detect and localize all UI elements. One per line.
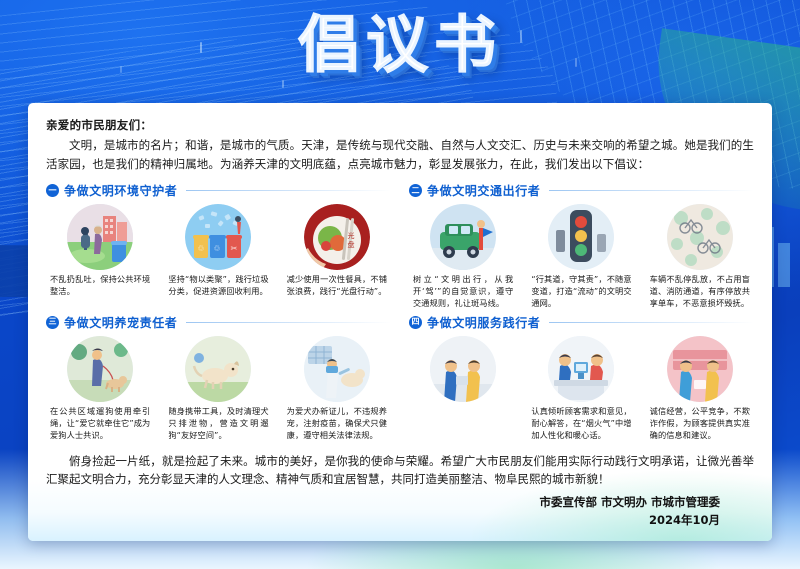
list-item: 诚信经营，公平竞争，不欺诈作假，为顾客提供真实准确的信息和建议。: [646, 336, 754, 442]
shared-bikes-parking-icon: [667, 204, 733, 270]
clean-plate-bowl-icon: 光 盘: [304, 204, 370, 270]
section-number-badge: 二: [409, 184, 422, 197]
dog-leash-walk-icon: [67, 336, 133, 402]
list-item: 认真倾听顾客需求和意见，耐心解答，在“烟火气”中增加人性化和暖心话。: [527, 336, 635, 442]
section-pet: 三 争做文明养宠责任者: [46, 314, 391, 442]
signature-block: 市委宣传部 市文明办 市城市管理委 2024年10月: [46, 493, 754, 530]
dog-waste-cleanup-icon: [185, 336, 251, 402]
poster-title-area: 倡议书: [0, 14, 800, 76]
item-caption: 树立“文明出行，从我开‘驾’”的自觉意识，遵守交通规则，礼让斑马线。: [409, 274, 517, 310]
item-caption: 坚持“物以类聚”，践行垃圾分类，促进资源回收利用。: [164, 274, 272, 298]
section-service: 四 争做文明服务践行者: [409, 314, 754, 442]
honest-business-icon: [667, 336, 733, 402]
section-number-badge: 四: [409, 316, 422, 329]
item-caption: “行其道，守其责”，不随意变道，打造“流动”的文明交通网。: [527, 274, 635, 310]
list-item: 随身携带工具，及时清理犬只排泄物，营造文明遛狗“友好空间”。: [164, 336, 272, 442]
list-item: ♲♲✂ 坚持“物以类聚”，践行垃圾分类，促进资源回收利用。: [164, 204, 272, 298]
salutation: 亲爱的市民朋友们：: [46, 117, 754, 133]
item-caption: 为爱犬办新证儿，不违规养宠，注射疫苗，确保犬只健康，遵守相关法律法规。: [283, 406, 391, 442]
section-divider-rule: [186, 322, 391, 323]
list-item: 树立“文明出行，从我开‘驾’”的自觉意识，遵守交通规则，礼让斑马线。: [409, 204, 517, 310]
item-caption: 随身携带工具，及时清理犬只排泄物，营造文明遛狗“友好空间”。: [164, 406, 272, 442]
customer-service-desk-icon: [548, 336, 614, 402]
list-item: 光 盘 减少使用一次性餐具，不铺张浪费，践行“光盘行动”。: [283, 204, 391, 298]
svg-text:光: 光: [347, 231, 354, 240]
service-staff-icon: [430, 336, 496, 402]
list-item: 不乱扔乱吐，保持公共环境整洁。: [46, 204, 154, 298]
section-traffic: 二 争做文明交通出行者: [409, 182, 754, 310]
section-number-badge: 一: [46, 184, 59, 197]
closing-paragraph: 俯身捡起一片纸，就是捡起了未来。城市的美好，是你我的使命与荣耀。希望广大市民朋友…: [46, 452, 754, 489]
list-item: 车辆不乱停乱放，不占用盲道、消防通道，有序停放共享单车，不恶意损坏毁抚。: [646, 204, 754, 310]
list-item: [409, 336, 517, 442]
sparkle-icon: [282, 80, 284, 88]
signature-date: 2024年10月: [46, 511, 720, 529]
letter-card: 亲爱的市民朋友们： 文明，是城市的名片；和谐，是城市的气质。天津，是传统与现代交…: [28, 103, 772, 541]
section-title: 争做文明养宠责任者: [64, 314, 177, 331]
intro-paragraph: 文明，是城市的名片；和谐，是城市的气质。天津，是传统与现代交融、自然与人文交汇、…: [46, 136, 754, 173]
svg-text:盘: 盘: [347, 240, 354, 249]
section-header: 四 争做文明服务践行者: [409, 314, 754, 331]
section-items: 认真倾听顾客需求和意见，耐心解答，在“烟火气”中增加人性化和暖心话。: [409, 336, 754, 442]
signature-organizations: 市委宣传部 市文明办 市城市管理委: [46, 493, 720, 511]
item-caption: 减少使用一次性餐具，不铺张浪费，践行“光盘行动”。: [283, 274, 391, 298]
traffic-signal-icon: [548, 204, 614, 270]
list-item: 在公共区域遛狗使用牵引绳，让“爱它就牵住它”成为爱狗人士共识。: [46, 336, 154, 442]
green-car-driver-icon: [430, 204, 496, 270]
section-environment: 一 争做文明环境守护者: [46, 182, 391, 310]
section-items: 不乱扔乱吐，保持公共环境整洁。: [46, 204, 391, 298]
svg-text:♲: ♲: [214, 244, 221, 253]
section-divider-rule: [549, 322, 754, 323]
item-caption: 认真倾听顾客需求和意见，耐心解答，在“烟火气”中增加人性化和暖心话。: [527, 406, 635, 442]
section-header: 三 争做文明养宠责任者: [46, 314, 391, 331]
list-item: 为爱犬办新证儿，不违规养宠，注射疫苗，确保犬只健康，遵守相关法律法规。: [283, 336, 391, 442]
svg-text:♲: ♲: [198, 244, 205, 253]
section-divider-rule: [186, 190, 391, 191]
pet-vaccination-icon: [304, 336, 370, 402]
section-items: 树立“文明出行，从我开‘驾’”的自觉意识，遵守交通规则，礼让斑马线。: [409, 204, 754, 310]
item-caption: 诚信经营，公平竞争，不欺诈作假，为顾客提供真实准确的信息和建议。: [646, 406, 754, 442]
section-divider-rule: [549, 190, 754, 191]
section-header: 二 争做文明交通出行者: [409, 182, 754, 199]
sections-grid: 一 争做文明环境守护者: [46, 182, 754, 441]
section-title: 争做文明服务践行者: [427, 314, 540, 331]
city-park-litter-icon: [67, 204, 133, 270]
item-caption: 不乱扔乱吐，保持公共环境整洁。: [46, 274, 154, 298]
page-title: 倡议书: [298, 14, 502, 76]
section-header: 一 争做文明环境守护者: [46, 182, 391, 199]
item-caption: 在公共区域遛狗使用牵引绳，让“爱它就牵住它”成为爱狗人士共识。: [46, 406, 154, 442]
section-title: 争做文明交通出行者: [427, 182, 540, 199]
section-title: 争做文明环境守护者: [64, 182, 177, 199]
section-items: 在公共区域遛狗使用牵引绳，让“爱它就牵住它”成为爱狗人士共识。: [46, 336, 391, 442]
list-item: “行其道，守其责”，不随意变道，打造“流动”的文明交通网。: [527, 204, 635, 310]
item-caption: 车辆不乱停乱放，不占用盲道、消防通道，有序停放共享单车，不恶意损坏毁抚。: [646, 274, 754, 310]
section-number-badge: 三: [46, 316, 59, 329]
svg-text:✂: ✂: [231, 244, 238, 253]
recycling-bins-icon: ♲♲✂: [185, 204, 251, 270]
